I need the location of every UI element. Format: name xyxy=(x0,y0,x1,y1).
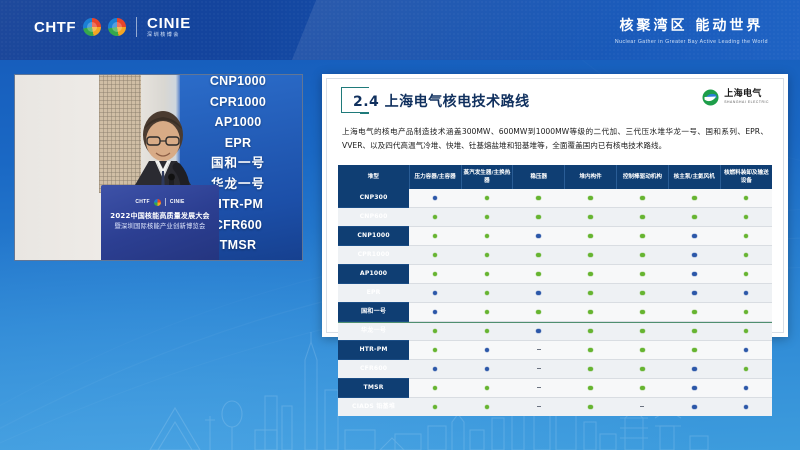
status-dot-green xyxy=(692,348,697,353)
row-label-3: CPR1000 xyxy=(338,246,409,265)
cell-r9-c6 xyxy=(720,360,772,379)
col-header-0: 压力容器/主容器 xyxy=(409,165,461,189)
logo-divider xyxy=(136,17,137,37)
cell-r11-c5 xyxy=(668,398,720,417)
status-dot-green xyxy=(433,253,438,258)
status-dot-blue xyxy=(744,405,749,410)
row-label-1: CNP600 xyxy=(338,208,409,227)
cell-r1-c2 xyxy=(513,208,565,227)
status-dot-blue xyxy=(433,196,438,201)
table-row: HTR-PM xyxy=(338,341,772,360)
cell-r6-c2 xyxy=(513,303,565,322)
cell-r1-c5 xyxy=(668,208,720,227)
status-dot-green xyxy=(433,234,438,239)
col-header-3: 堆内构件 xyxy=(565,165,617,189)
cell-r2-c5 xyxy=(668,227,720,246)
podium-emblem-icon xyxy=(154,199,161,206)
cell-r9-c1 xyxy=(461,360,513,379)
matrix-table-body: CNP300CNP600CNP1000CPR1000AP1000EPR国和一号华… xyxy=(338,189,772,416)
status-dot-green xyxy=(640,253,645,258)
col-header-reactor-type: 堆型 xyxy=(338,165,409,189)
podium-text: 2022中国核能高质量发展大会 暨深圳国际核能产业创新博览会 xyxy=(101,211,219,232)
cell-r8-c4 xyxy=(616,341,668,360)
status-dot-green xyxy=(485,310,490,315)
status-dot-green xyxy=(692,329,697,334)
status-dot-green xyxy=(485,291,490,296)
status-dot-blue xyxy=(485,348,490,353)
cell-r4-c6 xyxy=(720,265,772,284)
cell-r11-c6 xyxy=(720,398,772,417)
status-dot-green xyxy=(744,329,749,334)
cell-r8-c5 xyxy=(668,341,720,360)
status-dot-green xyxy=(433,386,438,391)
status-dot-green xyxy=(640,386,645,391)
status-dot-blue xyxy=(744,348,749,353)
cell-r6-c3 xyxy=(565,303,617,322)
cell-r10-c4 xyxy=(616,379,668,398)
col-header-5: 核主泵/主氦风机 xyxy=(668,165,720,189)
cell-r5-c4 xyxy=(616,284,668,303)
table-row: CNP600 xyxy=(338,208,772,227)
cell-r8-c1 xyxy=(461,341,513,360)
cell-r8-c3 xyxy=(565,341,617,360)
status-dot-green xyxy=(744,196,749,201)
podium-cinie-wordmark: CINIE xyxy=(170,199,185,205)
shanghai-electric-mark-icon xyxy=(702,89,719,106)
cell-r4-c3 xyxy=(565,265,617,284)
status-dot-blue xyxy=(433,367,438,372)
cell-r7-c5 xyxy=(668,322,720,341)
podium-line-1: 2022中国核能高质量发展大会 xyxy=(101,211,219,222)
status-dot-green xyxy=(536,215,541,220)
shanghai-electric-names: 上海电气 SHANGHAI ELECTRIC xyxy=(724,90,769,104)
status-dot-blue xyxy=(692,367,697,372)
status-dot-green xyxy=(588,405,593,410)
podium-logo-divider xyxy=(165,198,166,206)
status-dot-green xyxy=(640,367,645,372)
cell-r3-c2 xyxy=(513,246,565,265)
cinie-wordmark: CINIE xyxy=(147,16,191,31)
table-row: EPR xyxy=(338,284,772,303)
status-dot-green xyxy=(485,329,490,334)
row-label-8: HTR-PM xyxy=(338,341,409,360)
cell-r0-c5 xyxy=(668,189,720,208)
slide-title-row: 2.4 上海电气核电技术路线 上海电气 SHANGHAI ELECTRIC xyxy=(327,79,783,121)
cell-r10-c2 xyxy=(513,379,565,398)
status-dash xyxy=(537,406,541,407)
slide-inner-frame: 2.4 上海电气核电技术路线 上海电气 SHANGHAI ELECTRIC 上海… xyxy=(326,78,784,333)
cell-r11-c0 xyxy=(409,398,461,417)
event-logo-group: CHTF CINIE 深圳核博会 xyxy=(34,16,191,38)
status-dash xyxy=(640,406,644,407)
status-dot-green xyxy=(485,196,490,201)
col-header-1: 蒸汽发生器/主换热器 xyxy=(461,165,513,189)
row-label-9: CFR600 xyxy=(338,360,409,379)
slogan-chinese: 核聚湾区 能动世界 xyxy=(615,15,768,35)
cell-r10-c0 xyxy=(409,379,461,398)
cell-r5-c0 xyxy=(409,284,461,303)
table-row: AP1000 xyxy=(338,265,772,284)
status-dot-green xyxy=(640,234,645,239)
cell-r7-c4 xyxy=(616,322,668,341)
status-dot-green xyxy=(640,196,645,201)
cell-r3-c5 xyxy=(668,246,720,265)
cell-r3-c3 xyxy=(565,246,617,265)
event-banner: CHTF CINIE 深圳核博会 核聚湾区 能动世界 Nuclear Gathe… xyxy=(0,0,800,60)
status-dot-blue xyxy=(536,234,541,239)
status-dot-green xyxy=(433,348,438,353)
cell-r2-c2 xyxy=(513,227,565,246)
cell-r7-c0 xyxy=(409,322,461,341)
cell-r9-c5 xyxy=(668,360,720,379)
status-dot-green xyxy=(536,253,541,258)
slide-bottom-rule xyxy=(338,322,772,323)
status-dot-blue xyxy=(692,291,697,296)
cell-r6-c0 xyxy=(409,303,461,322)
cell-r6-c6 xyxy=(720,303,772,322)
status-dot-blue xyxy=(692,272,697,277)
matrix-table-head: 堆型 压力容器/主容器 蒸汽发生器/主换热器 稳压器 堆内构件 控制棒驱动机构 … xyxy=(338,165,772,189)
cell-r1-c1 xyxy=(461,208,513,227)
status-dash xyxy=(537,349,541,350)
status-dot-green xyxy=(485,234,490,239)
cell-r0-c3 xyxy=(565,189,617,208)
cell-r7-c1 xyxy=(461,322,513,341)
cell-r5-c1 xyxy=(461,284,513,303)
cell-r3-c1 xyxy=(461,246,513,265)
slide-body-text: 上海电气的核电产品制造技术涵盖300MW、600MW到1000MW等级的二代加、… xyxy=(342,125,768,153)
status-dot-green xyxy=(485,272,490,277)
status-dot-green xyxy=(536,196,541,201)
status-dot-green xyxy=(744,272,749,277)
cell-r9-c3 xyxy=(565,360,617,379)
cell-r11-c2 xyxy=(513,398,565,417)
status-dot-green xyxy=(692,196,697,201)
cell-r0-c1 xyxy=(461,189,513,208)
status-dot-green xyxy=(744,253,749,258)
speaker-video-panel[interactable]: CNP1000 CPR1000 AP1000 EPR 国和一号 华龙一号 HTR… xyxy=(14,74,303,261)
status-dot-green xyxy=(692,310,697,315)
cell-r4-c5 xyxy=(668,265,720,284)
presentation-slide[interactable]: 2.4 上海电气核电技术路线 上海电气 SHANGHAI ELECTRIC 上海… xyxy=(322,74,788,337)
status-dot-blue xyxy=(433,291,438,296)
status-dot-green xyxy=(485,215,490,220)
cell-r8-c2 xyxy=(513,341,565,360)
cell-r9-c2 xyxy=(513,360,565,379)
status-dot-green xyxy=(588,386,593,391)
status-dot-green xyxy=(588,310,593,315)
cell-r6-c5 xyxy=(668,303,720,322)
cell-r3-c4 xyxy=(616,246,668,265)
status-dot-green xyxy=(640,329,645,334)
chtf-wordmark: CHTF xyxy=(34,19,76,36)
status-dot-green xyxy=(640,348,645,353)
status-dot-green xyxy=(588,329,593,334)
cell-r2-c0 xyxy=(409,227,461,246)
status-dot-green xyxy=(536,310,541,315)
status-dot-green xyxy=(744,215,749,220)
row-label-5: EPR xyxy=(338,284,409,303)
row-label-10: TMSR xyxy=(338,379,409,398)
cell-r1-c3 xyxy=(565,208,617,227)
table-row: TMSR xyxy=(338,379,772,398)
cinie-emblem-icon xyxy=(108,18,126,36)
status-dot-green xyxy=(485,405,490,410)
cell-r7-c3 xyxy=(565,322,617,341)
cell-r7-c6 xyxy=(720,322,772,341)
cell-r6-c1 xyxy=(461,303,513,322)
status-dot-blue xyxy=(692,234,697,239)
col-header-2: 稳压器 xyxy=(513,165,565,189)
status-dot-green xyxy=(588,348,593,353)
status-dot-green xyxy=(588,253,593,258)
table-row: 国和一号 xyxy=(338,303,772,322)
cell-r10-c6 xyxy=(720,379,772,398)
event-slogan: 核聚湾区 能动世界 Nuclear Gather in Greater Bay … xyxy=(615,15,768,45)
cell-r10-c3 xyxy=(565,379,617,398)
status-dot-green xyxy=(588,196,593,201)
status-dot-green xyxy=(640,310,645,315)
status-dot-green xyxy=(485,253,490,258)
slide-title: 2.4 上海电气核电技术路线 xyxy=(353,91,530,111)
slogan-english: Nuclear Gather in Greater Bay Active Lea… xyxy=(615,39,768,45)
cell-r9-c4 xyxy=(616,360,668,379)
status-dot-blue xyxy=(692,386,697,391)
table-row: CPR1000 xyxy=(338,246,772,265)
table-row: CFR600 xyxy=(338,360,772,379)
row-label-6: 国和一号 xyxy=(338,303,409,322)
row-label-0: CNP300 xyxy=(338,189,409,208)
status-dot-green xyxy=(433,405,438,410)
cell-r4-c0 xyxy=(409,265,461,284)
cell-r7-c2 xyxy=(513,322,565,341)
status-dot-green xyxy=(744,310,749,315)
cell-r5-c2 xyxy=(513,284,565,303)
cell-r1-c4 xyxy=(616,208,668,227)
status-dot-green xyxy=(433,272,438,277)
status-dot-blue xyxy=(744,386,749,391)
status-dot-green xyxy=(692,215,697,220)
screen-item-0: CNP1000 xyxy=(180,74,296,92)
cell-r2-c1 xyxy=(461,227,513,246)
status-dot-green xyxy=(588,215,593,220)
status-dot-green xyxy=(433,329,438,334)
cell-r5-c5 xyxy=(668,284,720,303)
status-dot-blue xyxy=(485,367,490,372)
status-dot-blue xyxy=(692,405,697,410)
table-row: CIADS 铅基堆 xyxy=(338,398,772,417)
row-label-11: CIADS 铅基堆 xyxy=(338,398,409,417)
technology-matrix-table[interactable]: 堆型 压力容器/主容器 蒸汽发生器/主换热器 稳压器 堆内构件 控制棒驱动机构 … xyxy=(338,165,772,416)
status-dot-green xyxy=(588,367,593,372)
cell-r10-c5 xyxy=(668,379,720,398)
cell-r6-c4 xyxy=(616,303,668,322)
cell-r11-c4 xyxy=(616,398,668,417)
se-name-en: SHANGHAI ELECTRIC xyxy=(724,101,769,104)
cell-r1-c6 xyxy=(720,208,772,227)
cell-r11-c3 xyxy=(565,398,617,417)
cinie-chinese-name: 深圳核博会 xyxy=(147,33,191,38)
col-header-4: 控制棒驱动机构 xyxy=(616,165,668,189)
cell-r2-c3 xyxy=(565,227,617,246)
cell-r5-c6 xyxy=(720,284,772,303)
row-label-7: 华龙一号 xyxy=(338,322,409,341)
status-dot-green xyxy=(485,386,490,391)
row-label-2: CNP1000 xyxy=(338,227,409,246)
cell-r3-c6 xyxy=(720,246,772,265)
table-header-row: 堆型 压力容器/主容器 蒸汽发生器/主换热器 稳压器 堆内构件 控制棒驱动机构 … xyxy=(338,165,772,189)
podium-line-2: 暨深圳国际核能产业创新博览会 xyxy=(101,222,219,232)
status-dot-green xyxy=(536,272,541,277)
status-dot-blue xyxy=(433,310,438,315)
podium-chtf-wordmark: CHTF xyxy=(135,199,150,205)
cell-r2-c4 xyxy=(616,227,668,246)
podium-logo-row: CHTF CINIE xyxy=(101,198,219,206)
status-dot-green xyxy=(588,234,593,239)
cell-r0-c0 xyxy=(409,189,461,208)
status-dot-green xyxy=(588,291,593,296)
cell-r0-c2 xyxy=(513,189,565,208)
table-row: 华龙一号 xyxy=(338,322,772,341)
status-dot-green xyxy=(640,291,645,296)
status-dot-blue xyxy=(744,291,749,296)
cell-r4-c1 xyxy=(461,265,513,284)
cell-r10-c1 xyxy=(461,379,513,398)
podium: CHTF CINIE 2022中国核能高质量发展大会 暨深圳国际核能产业创新博览… xyxy=(101,185,219,261)
cell-r2-c6 xyxy=(720,227,772,246)
cell-r4-c4 xyxy=(616,265,668,284)
status-dot-green xyxy=(640,215,645,220)
col-header-6: 核燃料装卸及输送设备 xyxy=(720,165,772,189)
status-dot-blue xyxy=(692,253,697,258)
matrix-table: 堆型 压力容器/主容器 蒸汽发生器/主换热器 稳压器 堆内构件 控制棒驱动机构 … xyxy=(338,165,772,416)
status-dash xyxy=(537,368,541,369)
cell-r11-c1 xyxy=(461,398,513,417)
chtf-emblem-icon xyxy=(83,18,101,36)
status-dash xyxy=(537,387,541,388)
cell-r3-c0 xyxy=(409,246,461,265)
cell-r0-c4 xyxy=(616,189,668,208)
cell-r4-c2 xyxy=(513,265,565,284)
status-dot-green xyxy=(640,272,645,277)
cell-r5-c3 xyxy=(565,284,617,303)
table-row: CNP1000 xyxy=(338,227,772,246)
shanghai-electric-logo: 上海电气 SHANGHAI ELECTRIC xyxy=(702,89,769,106)
status-dot-blue xyxy=(536,291,541,296)
cell-r0-c6 xyxy=(720,189,772,208)
cell-r8-c6 xyxy=(720,341,772,360)
se-name-cn: 上海电气 xyxy=(724,90,769,99)
status-dot-blue xyxy=(536,329,541,334)
cell-r8-c0 xyxy=(409,341,461,360)
status-dot-green xyxy=(433,215,438,220)
status-dot-green xyxy=(744,234,749,239)
cinie-logo-group: CINIE 深圳核博会 xyxy=(147,16,191,38)
cell-r9-c0 xyxy=(409,360,461,379)
status-dot-green xyxy=(588,272,593,277)
status-dot-green xyxy=(744,367,749,372)
table-row: CNP300 xyxy=(338,189,772,208)
row-label-4: AP1000 xyxy=(338,265,409,284)
cell-r1-c0 xyxy=(409,208,461,227)
